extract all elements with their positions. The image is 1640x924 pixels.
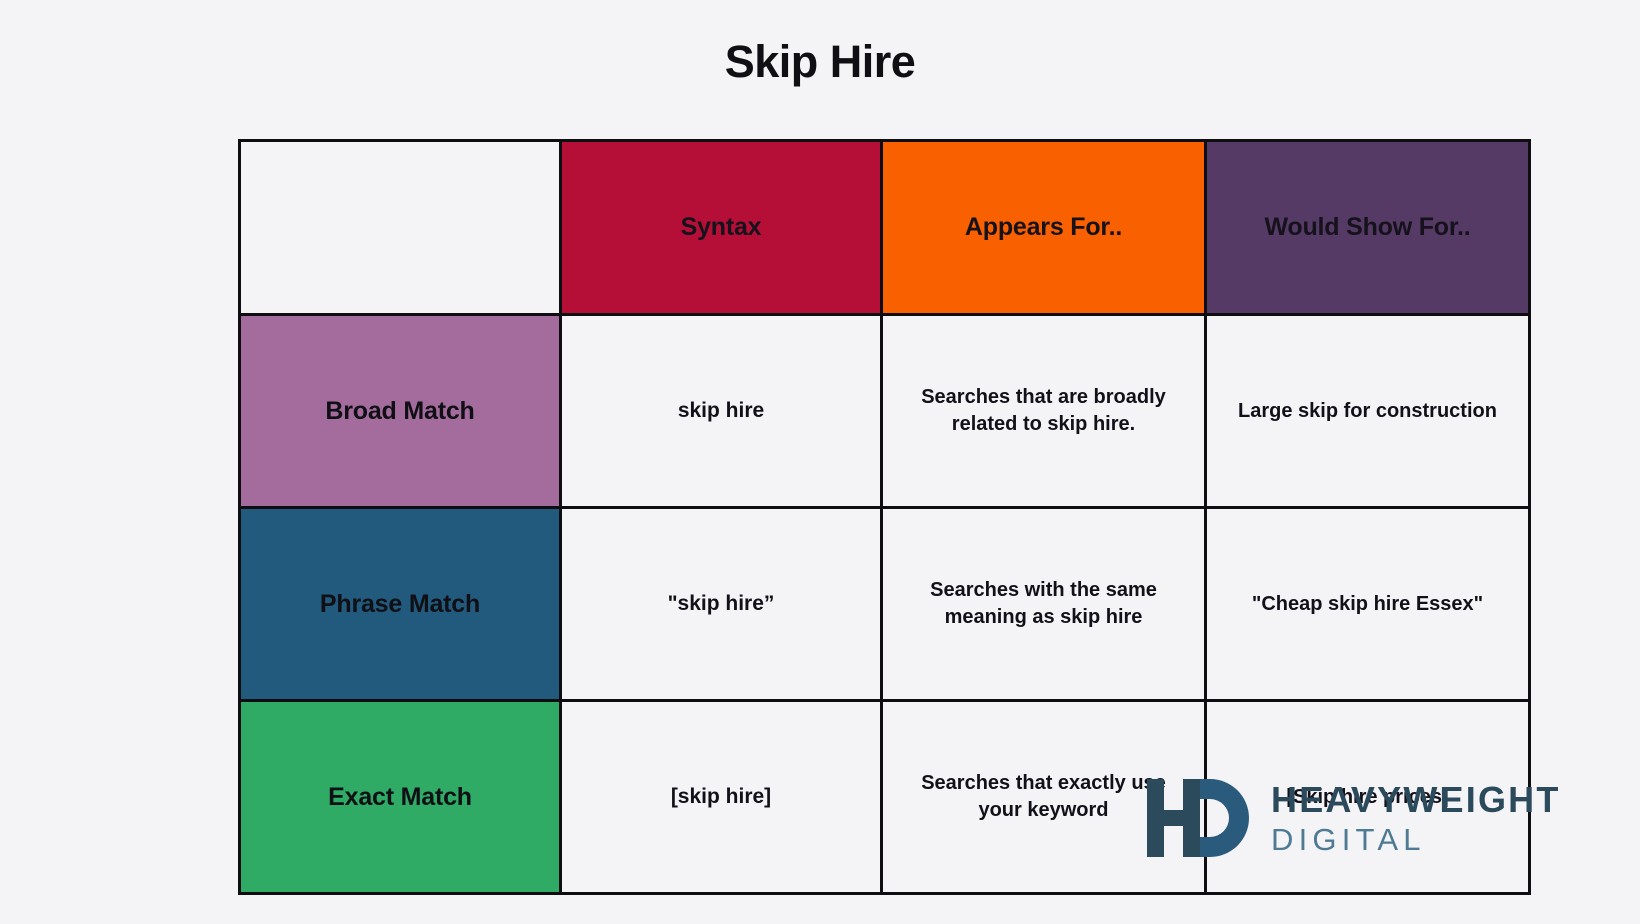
column-header-syntax: Syntax <box>561 141 882 315</box>
cell-would-show-for-broad-match: Large skip for construction <box>1206 315 1530 508</box>
row-label-broad-match: Broad Match <box>240 315 561 508</box>
column-header-appears-for: Appears For.. <box>882 141 1206 315</box>
cell-would-show-for-phrase-match: "Cheap skip hire Essex" <box>1206 508 1530 701</box>
logo-primary-text: HEAVYWEIGHT <box>1271 782 1561 818</box>
cell-syntax-broad-match: skip hire <box>561 315 882 508</box>
table-row: Broad Match skip hire Searches that are … <box>240 315 1530 508</box>
brand-logo: HEAVYWEIGHT DIGITAL <box>1147 779 1561 857</box>
cell-syntax-exact-match: [skip hire] <box>561 701 882 894</box>
cell-syntax-phrase-match: "skip hire” <box>561 508 882 701</box>
infographic-canvas: Skip Hire Syntax Appears For.. Would Sho… <box>0 0 1640 924</box>
hd-monogram-icon <box>1147 779 1249 857</box>
table-row: Phrase Match "skip hire” Searches with t… <box>240 508 1530 701</box>
page-title: Skip Hire <box>0 36 1640 88</box>
row-label-phrase-match: Phrase Match <box>240 508 561 701</box>
cell-appears-for-broad-match: Searches that are broadly related to ski… <box>882 315 1206 508</box>
table-header-row: Syntax Appears For.. Would Show For.. <box>240 141 1530 315</box>
logo-secondary-text: DIGITAL <box>1271 824 1561 855</box>
column-header-would-show-for: Would Show For.. <box>1206 141 1530 315</box>
logo-wordmark: HEAVYWEIGHT DIGITAL <box>1271 782 1561 855</box>
table-corner-cell <box>240 141 561 315</box>
row-label-exact-match: Exact Match <box>240 701 561 894</box>
cell-appears-for-phrase-match: Searches with the same meaning as skip h… <box>882 508 1206 701</box>
